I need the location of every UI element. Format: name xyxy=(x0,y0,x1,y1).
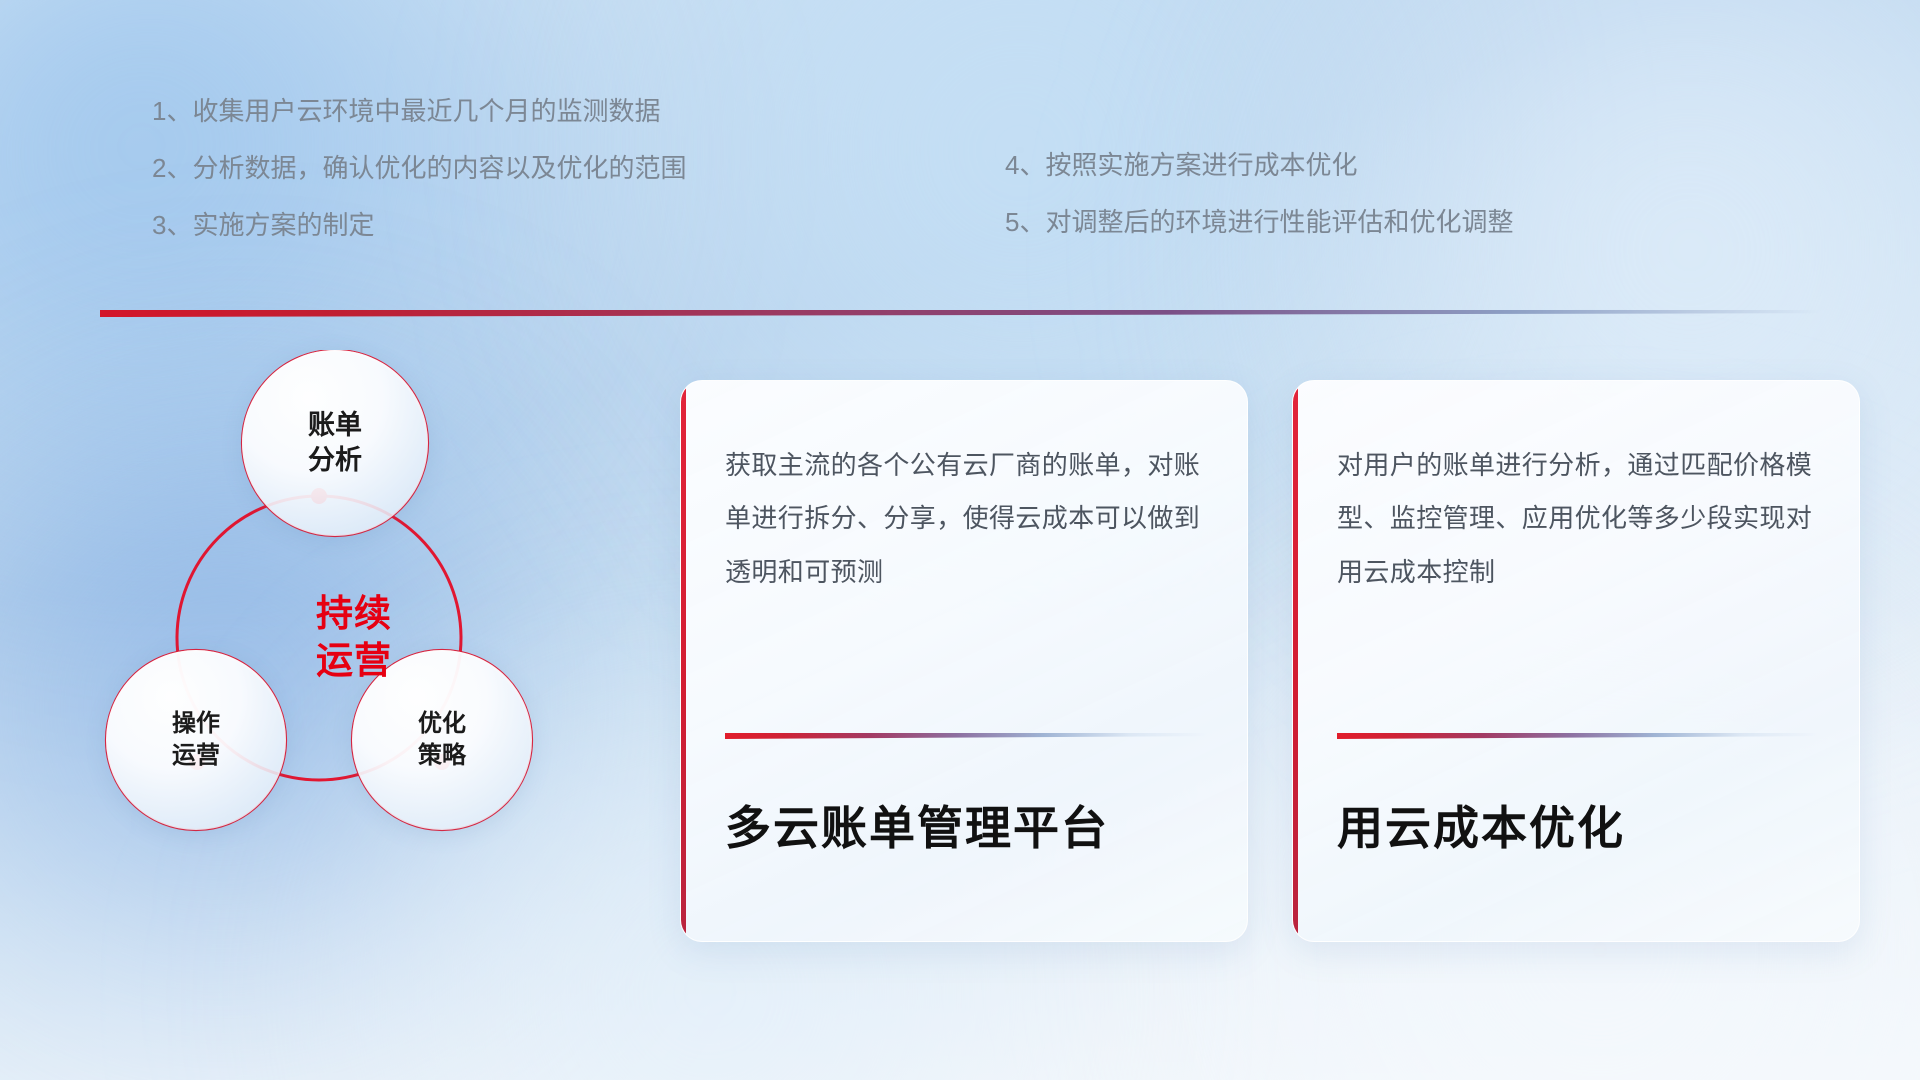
list-item-number: 2、 xyxy=(152,153,192,183)
card-divider xyxy=(1337,733,1819,739)
list-item: 2、分析数据，确认优化的内容以及优化的范围 xyxy=(152,155,686,181)
list-item-label: 收集用户云环境中最近几个月的监测数据 xyxy=(192,96,660,126)
venn-circle-label-line1: 优化 xyxy=(418,708,466,740)
steps-list-left: 1、收集用户云环境中最近几个月的监测数据 2、分析数据，确认优化的内容以及优化的… xyxy=(152,98,686,238)
slide-canvas: 1、收集用户云环境中最近几个月的监测数据 2、分析数据，确认优化的内容以及优化的… xyxy=(0,0,1920,1080)
card-title: 多云账单管理平台 xyxy=(725,801,1217,856)
list-item-label: 实施方案的制定 xyxy=(192,210,374,240)
venn-center-line2: 运营 xyxy=(204,637,504,684)
card-divider xyxy=(725,733,1207,739)
list-item-number: 4、 xyxy=(1005,150,1045,180)
card-title: 用云成本优化 xyxy=(1337,801,1829,856)
list-item: 4、按照实施方案进行成本优化 xyxy=(1005,152,1513,178)
steps-list-right: 4、按照实施方案进行成本优化 5、对调整后的环境进行性能评估和优化调整 xyxy=(1005,152,1513,235)
list-item-number: 1、 xyxy=(152,96,192,126)
venn-center-line1: 持续 xyxy=(204,590,504,637)
list-item-number: 3、 xyxy=(152,210,192,240)
card-multicloud-billing[interactable]: 获取主流的各个公有云厂商的账单，对账单进行拆分、分享，使得云成本可以做到透明和可… xyxy=(680,380,1248,942)
card-cloud-cost-optimization[interactable]: 对用户的账单进行分析，通过匹配价格模型、监控管理、应用优化等多少段实现对用云成本… xyxy=(1292,380,1860,942)
venn-center-label: 持续 运营 xyxy=(204,590,504,685)
venn-diagram: 账单 分析 操作 运营 优化 策略 持续 运营 xyxy=(96,350,616,910)
venn-circle-label-line2: 运营 xyxy=(172,740,220,772)
list-item: 1、收集用户云环境中最近几个月的监测数据 xyxy=(152,98,686,124)
card-body-text: 对用户的账单进行分析，通过匹配价格模型、监控管理、应用优化等多少段实现对用云成本… xyxy=(1337,439,1825,599)
venn-circle-label-line1: 账单 xyxy=(308,408,362,443)
card-body-text: 获取主流的各个公有云厂商的账单，对账单进行拆分、分享，使得云成本可以做到透明和可… xyxy=(725,439,1213,599)
venn-circle-label-line2: 分析 xyxy=(308,443,362,478)
list-item-label: 按照实施方案进行成本优化 xyxy=(1045,150,1357,180)
list-item: 3、实施方案的制定 xyxy=(152,212,686,238)
list-item: 5、对调整后的环境进行性能评估和优化调整 xyxy=(1005,209,1513,235)
venn-circle-label-line2: 策略 xyxy=(418,740,466,772)
list-item-label: 分析数据，确认优化的内容以及优化的范围 xyxy=(192,153,686,183)
list-item-label: 对调整后的环境进行性能评估和优化调整 xyxy=(1045,207,1513,237)
venn-circle-billing-analysis[interactable]: 账单 分析 xyxy=(242,350,428,536)
venn-circle-label-line1: 操作 xyxy=(172,708,220,740)
list-item-number: 5、 xyxy=(1005,207,1045,237)
